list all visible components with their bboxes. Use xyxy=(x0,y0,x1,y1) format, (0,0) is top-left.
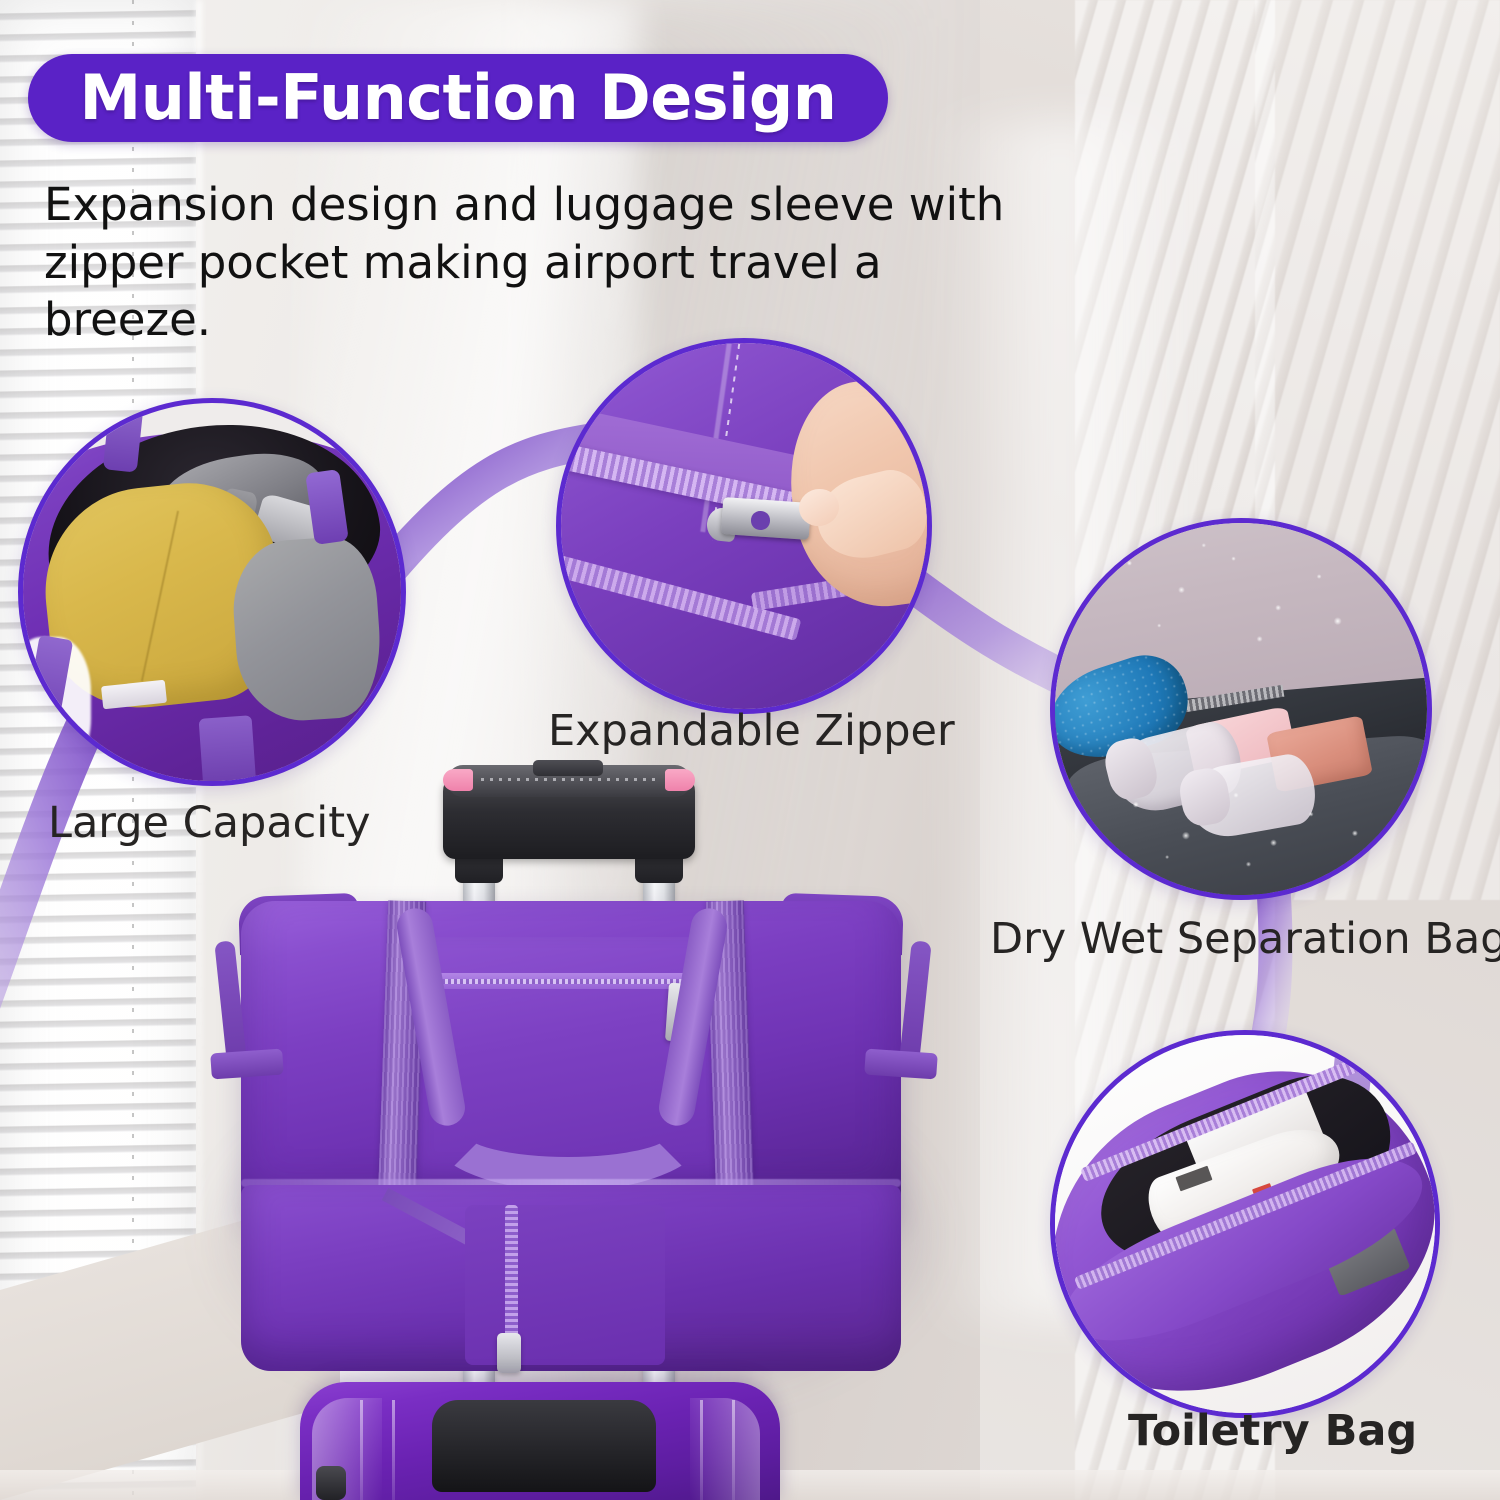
subtitle-line-1: Expansion design and luggage sleeve with xyxy=(44,176,1044,234)
page-title: Multi-Function Design xyxy=(80,67,837,129)
suitcase-top-handle xyxy=(432,1400,656,1492)
suitcase-wheel xyxy=(316,1466,346,1500)
suitcase-rib-4 xyxy=(732,1400,735,1500)
trolley-pink-cap-left xyxy=(443,769,473,791)
side-buckle-right xyxy=(864,1049,938,1080)
side-buckle-left xyxy=(210,1049,284,1080)
front-pocket-zipper xyxy=(505,1205,518,1351)
callout-image-expandable-zipper xyxy=(561,343,927,709)
callout-label-toiletry-bag: Toiletry Bag xyxy=(1128,1406,1417,1456)
subtitle-block: Expansion design and luggage sleeve with… xyxy=(44,176,1044,349)
callout-label-dry-wet-separation: Dry Wet Separation Bag xyxy=(990,914,1500,964)
zipper-pull-hole xyxy=(751,511,769,529)
callout-image-large-capacity xyxy=(23,403,401,781)
front-zip-pocket xyxy=(465,1205,665,1365)
page-title-badge: Multi-Function Design xyxy=(28,54,888,142)
trolley-grip-latch xyxy=(533,760,603,776)
callout-label-expandable-zipper: Expandable Zipper xyxy=(548,706,955,756)
callout-image-dry-wet-separation xyxy=(1055,523,1427,895)
callout-circle-expandable-zipper xyxy=(556,338,932,714)
subtitle-line-2: zipper pocket making airport travel a br… xyxy=(44,234,1044,349)
trolley-pink-cap-right xyxy=(665,769,695,791)
suitcase-rib-3 xyxy=(700,1400,703,1500)
callout-circle-dry-wet-separation xyxy=(1050,518,1432,900)
callout-circle-toiletry-bag xyxy=(1050,1030,1440,1418)
callout-circle-large-capacity xyxy=(18,398,406,786)
suitcase-rib-1 xyxy=(360,1400,363,1500)
carry-handle-loop xyxy=(429,1071,707,1191)
front-pocket-zipper-pull xyxy=(497,1333,521,1373)
callout-image-toiletry-bag xyxy=(1055,1035,1435,1413)
suitcase-rib-2 xyxy=(392,1400,395,1500)
bag-handle-left xyxy=(103,405,144,472)
water-droplets-tray xyxy=(1092,769,1404,888)
infographic-canvas: Multi-Function Design Expansion design a… xyxy=(0,0,1500,1500)
